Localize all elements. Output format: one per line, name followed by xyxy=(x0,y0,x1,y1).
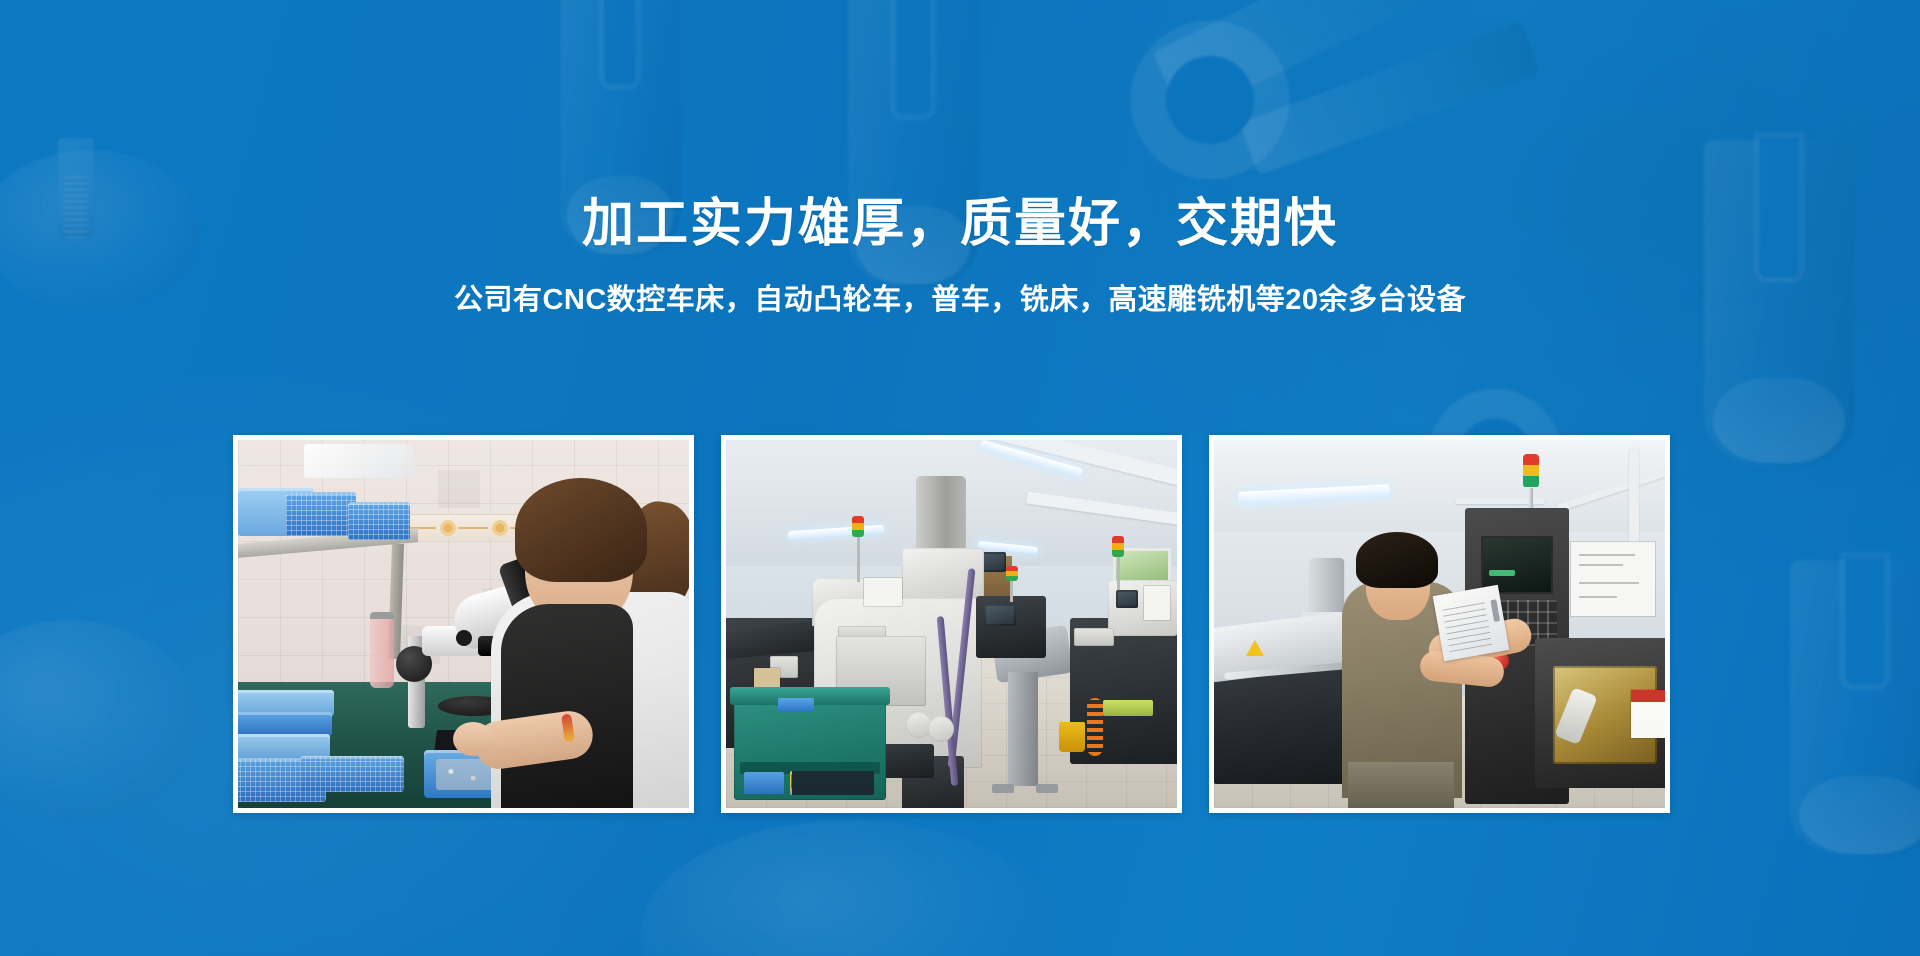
machine-control-screen xyxy=(1116,590,1138,608)
tool-cart xyxy=(734,694,886,800)
water-bottle xyxy=(370,612,394,688)
operator-hand xyxy=(453,722,493,756)
conveyor-leg xyxy=(1008,672,1038,786)
storage-basket xyxy=(238,712,332,736)
plastic-bag xyxy=(304,444,414,478)
disc-bottom-center-icon xyxy=(640,820,1060,956)
gallery-photo-1[interactable] xyxy=(233,435,694,813)
warning-triangle-icon xyxy=(1246,640,1264,656)
machine-display-far xyxy=(984,604,1016,626)
pressure-gauge xyxy=(928,716,954,742)
gallery-photo-3[interactable] xyxy=(1209,435,1670,813)
photo-cnc-workshop xyxy=(726,440,1177,808)
machine-drawing-sheet xyxy=(864,578,902,606)
machine-drawing-sheet xyxy=(1144,586,1170,620)
capsule-part-lower-right-icon xyxy=(1790,560,1920,860)
lamp-pole xyxy=(1117,556,1120,590)
storage-basket xyxy=(300,756,404,792)
process-whiteboard xyxy=(1571,542,1655,616)
lamp-pole xyxy=(857,536,860,582)
status-lamp xyxy=(1006,566,1018,586)
storage-basket xyxy=(348,502,410,540)
page-title: 加工实力雄厚，质量好，交期快 xyxy=(0,196,1920,253)
disc-bottom-left-icon xyxy=(0,620,200,820)
status-lamp xyxy=(1523,454,1539,488)
equipment-capability-banner: 加工实力雄厚，质量好，交期快 公司有CNC数控车床，自动凸轮车，普车，铣床，高速… xyxy=(0,0,1920,956)
photo-quality-inspection xyxy=(238,440,689,808)
microscope-knob-small xyxy=(456,630,472,646)
operator-hair xyxy=(1356,532,1438,588)
operator-vest xyxy=(501,604,633,808)
duct-vent xyxy=(1310,558,1344,616)
status-lamp xyxy=(852,516,864,537)
orange-air-coil xyxy=(1087,698,1103,756)
green-parts-tray xyxy=(1103,700,1153,716)
gallery-photo-2[interactable] xyxy=(721,435,1182,813)
photo-gallery xyxy=(233,435,1670,813)
workshop-ceiling xyxy=(1214,440,1665,532)
storage-basket xyxy=(286,492,356,536)
page-subtitle: 公司有CNC数控车床，自动凸轮车，普车，铣床，高速雕铣机等20余多台设备 xyxy=(0,283,1920,318)
operator-pants xyxy=(1348,762,1454,808)
yellow-bucket xyxy=(1059,722,1085,752)
shaft-rod-upper-right-icon xyxy=(1152,0,1508,119)
machine-keypad-right xyxy=(1074,628,1114,646)
photo-cnc-operator xyxy=(1214,440,1665,808)
ring-part-right-icon xyxy=(1120,10,1300,190)
work-order-clipboard xyxy=(1433,585,1509,661)
conveyor-foot xyxy=(1036,784,1058,793)
ceiling-pipe xyxy=(1629,448,1639,548)
operator-hair xyxy=(515,478,647,582)
shaft-rod-upper-right-2-icon xyxy=(1239,20,1540,175)
storage-basket xyxy=(238,734,330,758)
banner-copy: 加工实力雄厚，质量好，交期快 公司有CNC数控车床，自动凸轮车，普车，铣床，高速… xyxy=(0,196,1920,318)
status-lamp xyxy=(1112,536,1124,557)
safety-notice-sign xyxy=(1631,690,1665,738)
conveyor-foot xyxy=(992,784,1014,793)
